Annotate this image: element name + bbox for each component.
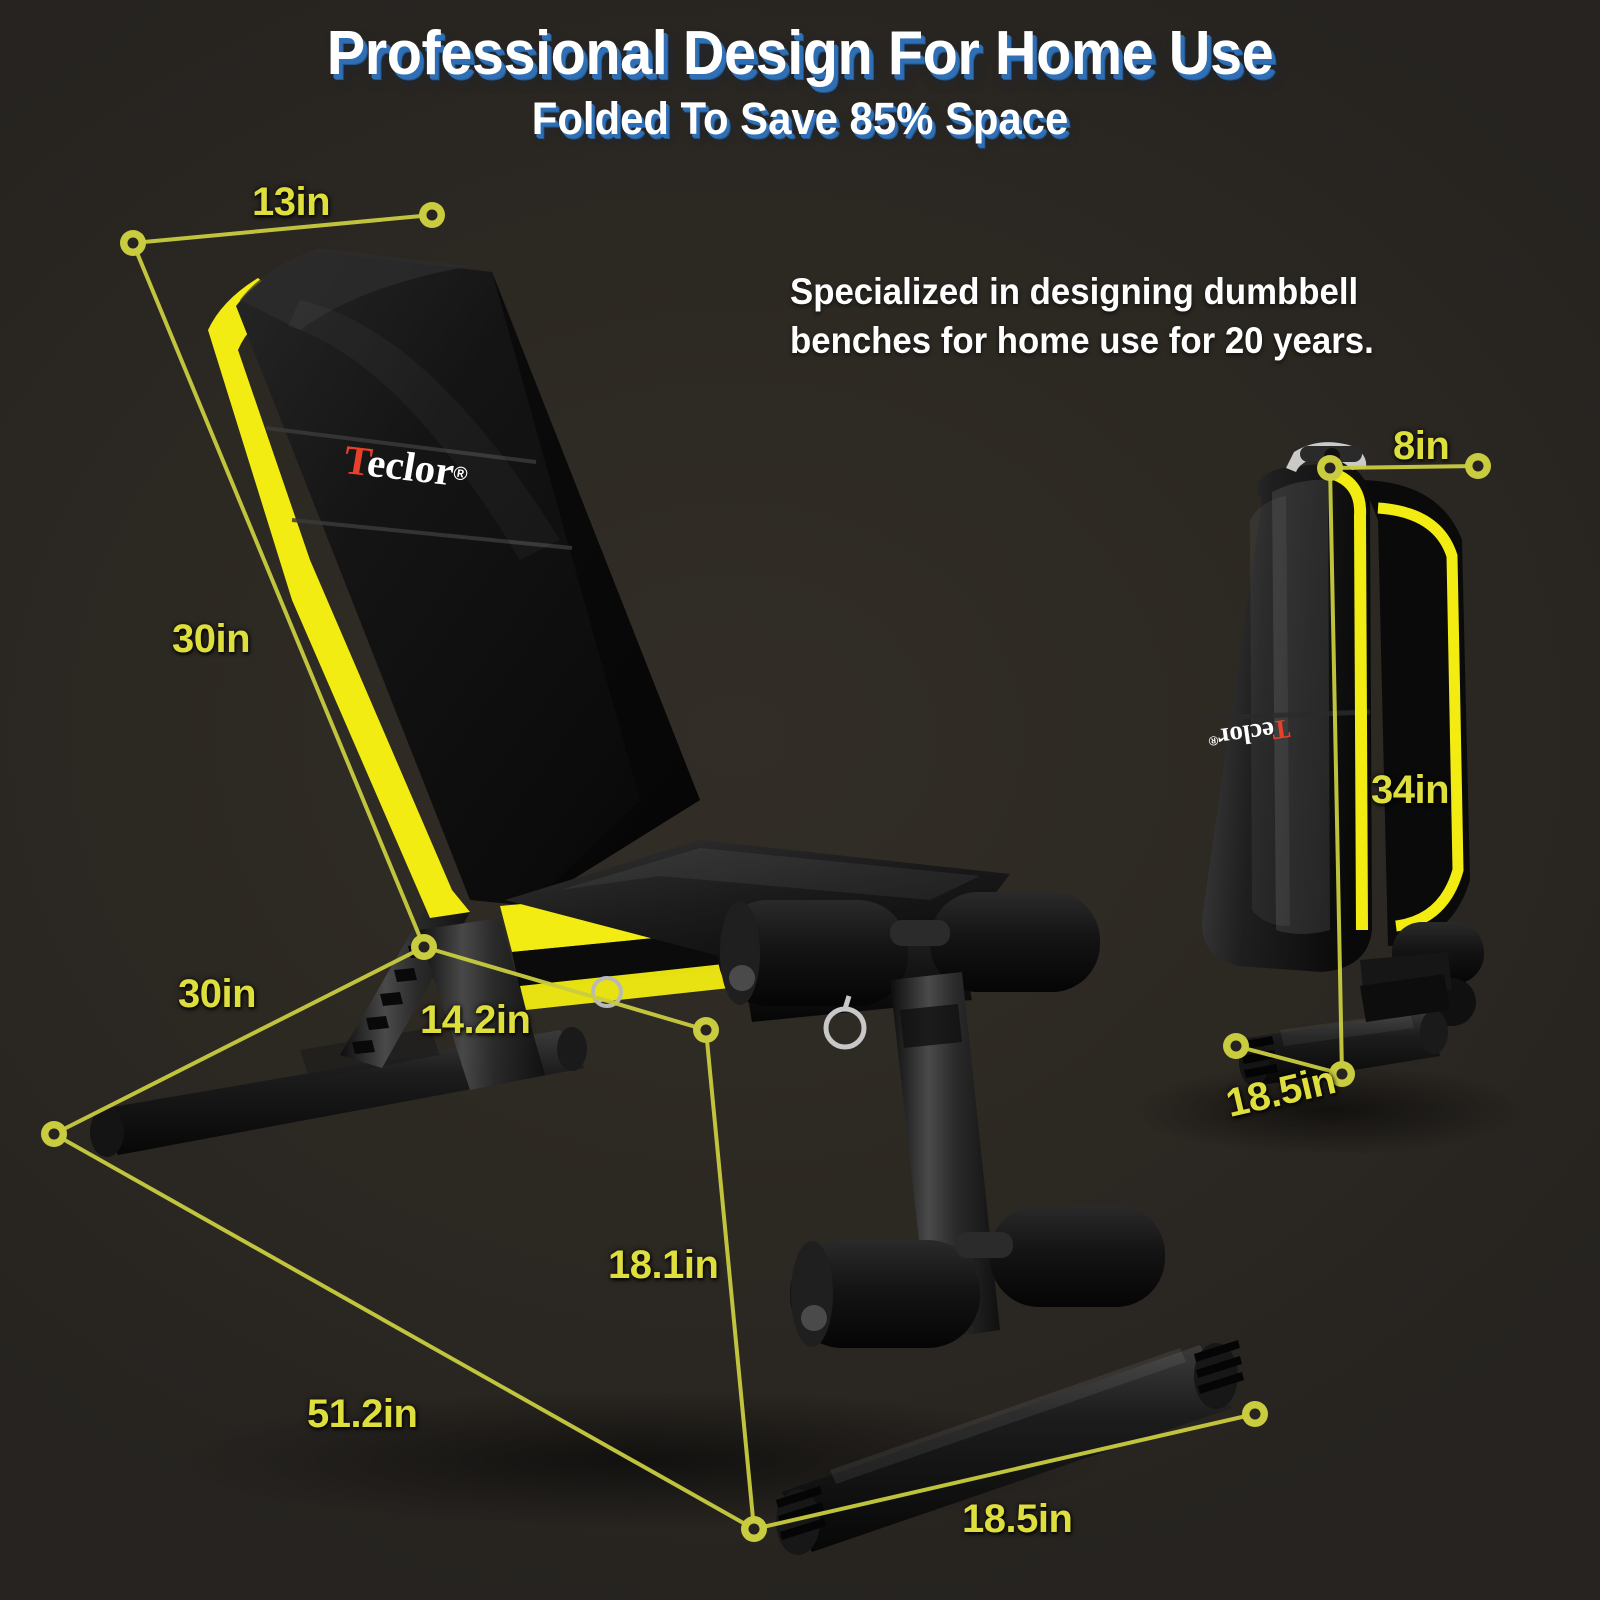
dimension-label-34in: 34in: [1371, 768, 1449, 813]
dimline-51-2in: [54, 1134, 754, 1529]
infographic-canvas: Professional Design For Home Use Folded …: [0, 0, 1600, 1600]
dimline-34in: [1330, 468, 1342, 1074]
dimension-label-51-2in: 51.2in: [307, 1392, 417, 1437]
dimension-label-30in-base: 30in: [178, 972, 256, 1017]
dimension-label-13in: 13in: [252, 180, 330, 225]
dimension-overlay: [0, 0, 1600, 1600]
dimension-label-18-1in: 18.1in: [608, 1243, 718, 1288]
dimension-endpoints: [41, 202, 1491, 1542]
dimline-30in-backrest: [133, 243, 424, 947]
dimension-label-18-5in-base: 18.5in: [962, 1497, 1072, 1542]
dimension-label-8in: 8in: [1393, 424, 1449, 469]
dimension-label-30in-backrest: 30in: [172, 617, 250, 662]
dimension-label-14-2in: 14.2in: [420, 998, 530, 1043]
